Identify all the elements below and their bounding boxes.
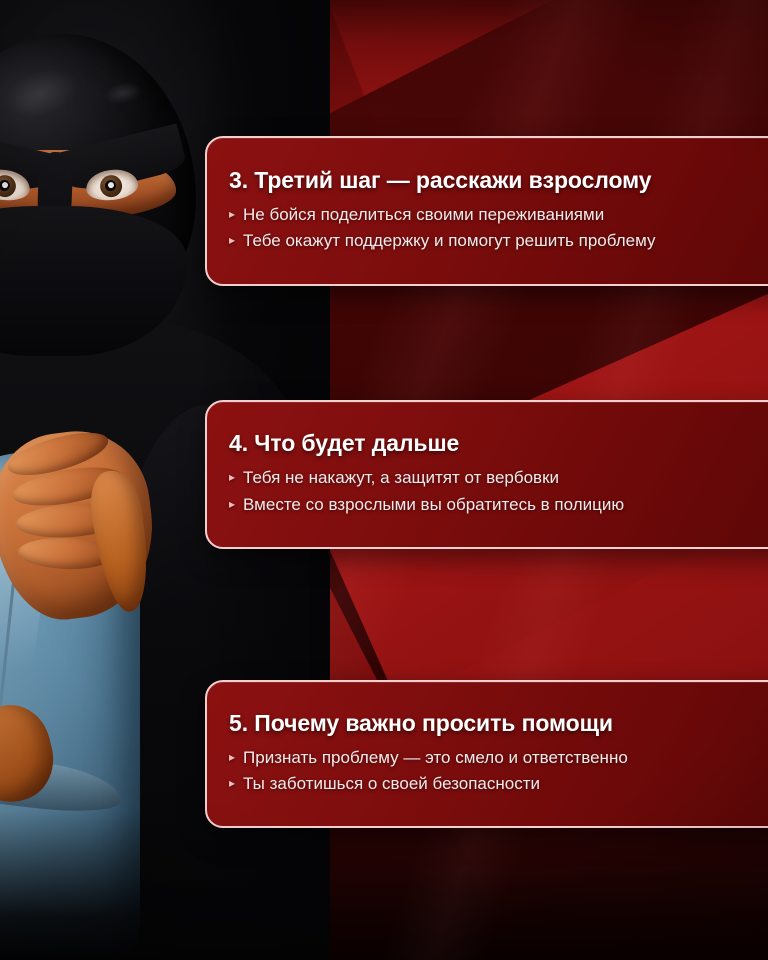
card-title: 5. Почему важно просить помощи (229, 710, 768, 737)
card-bullet-text: Тебе окажут поддержку и помогут решить п… (243, 229, 768, 253)
card-bullet-text: Вместе со взрослыми вы обратитесь в поли… (243, 493, 768, 517)
card-bullet-list: ▸ Тебя не накажут, а защитят от вербовки… (229, 466, 768, 518)
eye-glint (108, 182, 115, 189)
card-title: 4. Что будет дальше (229, 430, 768, 457)
triangle-bullet-icon: ▸ (229, 746, 235, 769)
step-card-5: 5. Почему важно просить помощи ▸ Признат… (205, 680, 768, 828)
eye-pupil (0, 179, 11, 191)
infographic-poster: 3. Третий шаг — расскажи взрослому ▸ Не … (0, 0, 768, 960)
card-bullet-text: Признать проблему — это смело и ответств… (243, 746, 768, 770)
card-bullet-item: ▸ Тебе окажут поддержку и помогут решить… (229, 229, 768, 253)
triangle-bullet-icon: ▸ (229, 229, 235, 252)
card-bullet-item: ▸ Признать проблему — это смело и ответс… (229, 746, 768, 770)
card-bullet-item: ▸ Ты заботишься о своей безопасности (229, 772, 768, 796)
card-bullet-item: ▸ Тебя не накажут, а защитят от вербовки (229, 466, 768, 490)
card-bullet-item: ▸ Не бойся поделиться своими переживания… (229, 203, 768, 227)
eye-glint (2, 182, 9, 189)
triangle-bullet-icon: ▸ (229, 493, 235, 516)
eye-iris (0, 174, 17, 199)
card-bullet-text: Ты заботишься о своей безопасности (243, 772, 768, 796)
triangle-bullet-icon: ▸ (229, 772, 235, 795)
step-card-4: 4. Что будет дальше ▸ Тебя не накажут, а… (205, 400, 768, 549)
card-bullet-text: Не бойся поделиться своими переживаниями (243, 203, 768, 227)
card-bullet-list: ▸ Признать проблему — это смело и ответс… (229, 746, 768, 798)
card-bullet-list: ▸ Не бойся поделиться своими переживания… (229, 203, 768, 255)
card-title: 3. Третий шаг — расскажи взрослому (229, 167, 768, 194)
card-bullet-text: Тебя не накажут, а защитят от вербовки (243, 466, 768, 490)
step-card-3: 3. Третий шаг — расскажи взрослому ▸ Не … (205, 136, 768, 286)
card-bullet-item: ▸ Вместе со взрослыми вы обратитесь в по… (229, 493, 768, 517)
eye-pupil (104, 180, 116, 192)
triangle-bullet-icon: ▸ (229, 203, 235, 226)
triangle-bullet-icon: ▸ (229, 466, 235, 489)
eye-iris (99, 174, 124, 199)
